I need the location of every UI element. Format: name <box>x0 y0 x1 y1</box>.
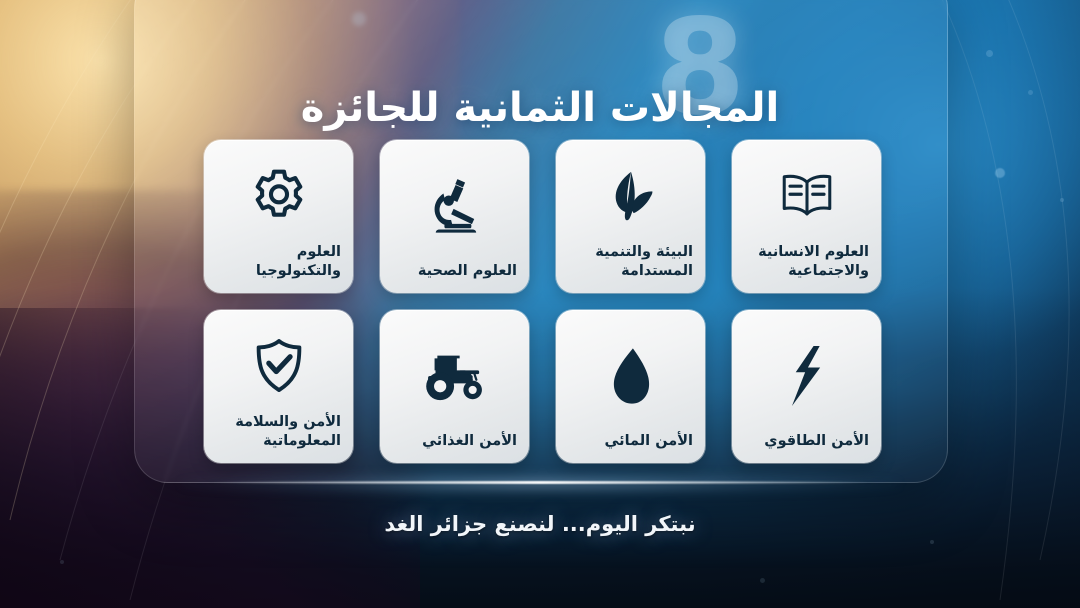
domain-card-label: الأمن الطاقوي <box>744 432 869 451</box>
domain-card-water-security[interactable]: الأمن المائي <box>556 310 705 463</box>
domain-card-label: الأمن والسلامة المعلوماتية <box>216 413 341 451</box>
lightning-bolt-icon <box>744 320 869 432</box>
domain-card-label: العلوم الصحية <box>392 262 517 281</box>
gear-icon <box>216 150 341 243</box>
microscope-icon <box>392 150 517 262</box>
domain-card-label: العلوم الانسانية والاجتماعية <box>744 243 869 281</box>
domain-card-food-security[interactable]: الأمن الغذائي <box>380 310 529 463</box>
domain-card-label: العلوم والتكنولوجيا <box>216 243 341 281</box>
domain-card-energy-security[interactable]: الأمن الطاقوي <box>732 310 881 463</box>
panel-highlight-line <box>210 481 870 484</box>
panel-underglow <box>180 473 900 495</box>
domain-card-humanities-social-sciences[interactable]: العلوم الانسانية والاجتماعية <box>732 140 881 293</box>
leaf-icon <box>568 150 693 243</box>
domain-card-label: البيئة والتنمية المستدامة <box>568 243 693 281</box>
tractor-icon <box>392 320 517 432</box>
open-book-icon <box>744 150 869 243</box>
tagline: نبتكر اليوم... لنصنع جزائر الغد <box>0 512 1080 536</box>
water-drop-icon <box>568 320 693 432</box>
domain-card-information-security-safety[interactable]: الأمن والسلامة المعلوماتية <box>204 310 353 463</box>
domain-card-environment-sustainable-development[interactable]: البيئة والتنمية المستدامة <box>556 140 705 293</box>
domain-card-label: الأمن المائي <box>568 432 693 451</box>
domain-card-label: الأمن الغذائي <box>392 432 517 451</box>
shield-check-icon <box>216 320 341 413</box>
page-title: المجالات الثمانية للجائزة <box>0 85 1080 131</box>
domain-card-health-sciences[interactable]: العلوم الصحية <box>380 140 529 293</box>
domain-card-science-technology[interactable]: العلوم والتكنولوجيا <box>204 140 353 293</box>
domains-grid: العلوم الانسانية والاجتماعية البيئة والت… <box>203 140 881 463</box>
slide-canvas: 8 المجالات الثمانية للجائزة العلوم الانس… <box>0 0 1080 608</box>
